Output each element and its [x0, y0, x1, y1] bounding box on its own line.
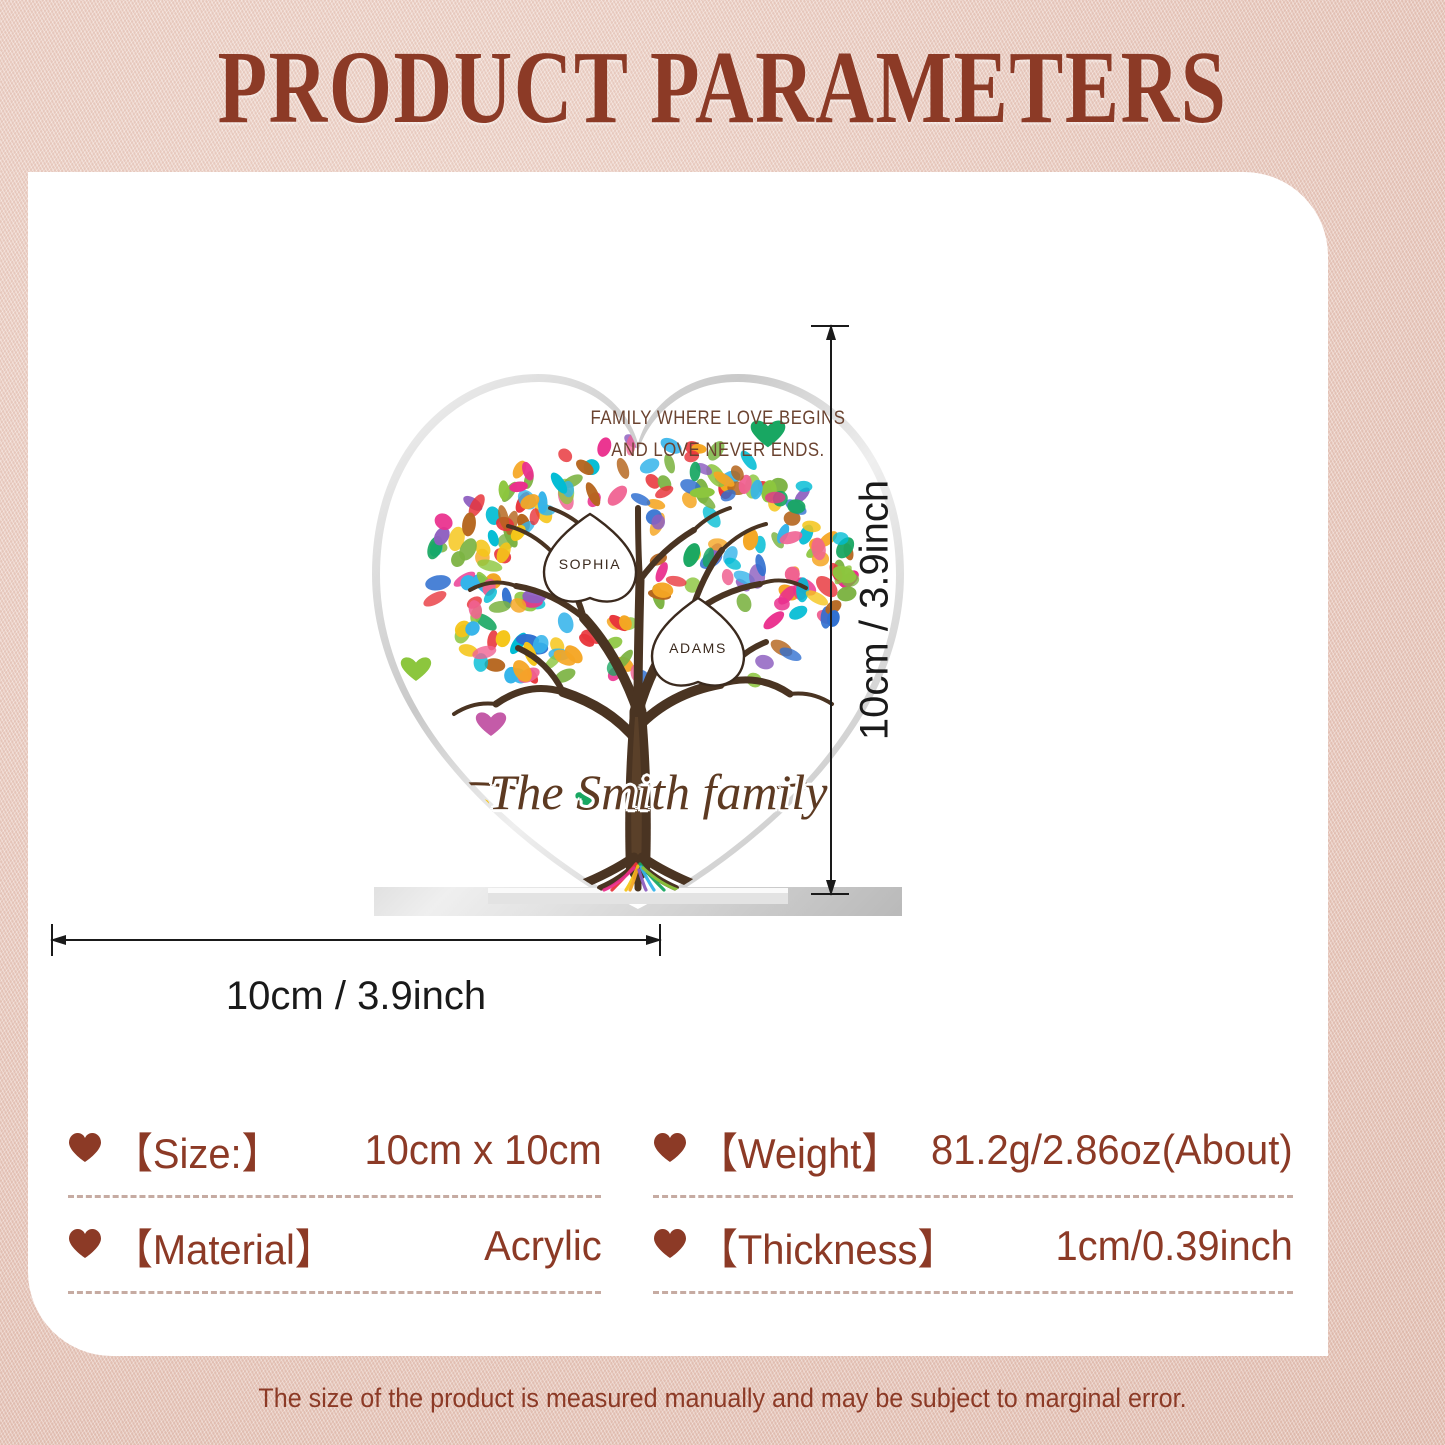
footer-disclaimer: The size of the product is measured manu…: [51, 1383, 1395, 1414]
spec-value-size: 10cm x 10cm: [364, 1126, 601, 1174]
spec-row-material: 【Material】 Acrylic: [68, 1198, 601, 1294]
product-image-stage: FAMILY WHERE LOVE BEGINS AND LOVE NEVER …: [28, 172, 1328, 1032]
spec-key-material: 【Material】: [113, 1216, 335, 1277]
spec-grid: 【Size:】 10cm x 10cm 【Weight】 81.2g/2.86o…: [68, 1102, 1293, 1294]
product-card: FAMILY WHERE LOVE BEGINS AND LOVE NEVER …: [28, 172, 1328, 1356]
dimension-vertical-label: 10cm / 3.9inch: [853, 480, 898, 740]
page-title: PRODUCT PARAMETERS: [159, 36, 1286, 140]
dimension-vertical: 10cm / 3.9inch: [803, 320, 923, 900]
heart-icon: [653, 1228, 687, 1259]
spec-value-thickness: 1cm/0.39inch: [1056, 1222, 1293, 1270]
spec-row-thickness: 【Thickness】 1cm/0.39inch: [653, 1198, 1293, 1294]
spec-value-material: Acrylic: [484, 1222, 601, 1270]
spec-key-weight: 【Weight】: [698, 1120, 901, 1181]
name-label-sophia: SOPHIA: [540, 556, 640, 572]
dimension-horizontal: 10cm / 3.9inch: [46, 922, 666, 1032]
spec-value-weight: 81.2g/2.86oz(About): [931, 1126, 1293, 1174]
spec-key-thickness: 【Thickness】: [698, 1216, 957, 1277]
name-label-adams: ADAMS: [648, 640, 748, 656]
spec-row-size: 【Size:】 10cm x 10cm: [68, 1102, 601, 1198]
spec-row-weight: 【Weight】 81.2g/2.86oz(About): [653, 1102, 1293, 1198]
dimension-horizontal-label: 10cm / 3.9inch: [226, 974, 486, 1019]
spec-key-size: 【Size:】: [113, 1120, 282, 1181]
heart-icon: [68, 1228, 102, 1259]
heart-icon: [653, 1132, 687, 1163]
heart-icon: [68, 1132, 102, 1163]
